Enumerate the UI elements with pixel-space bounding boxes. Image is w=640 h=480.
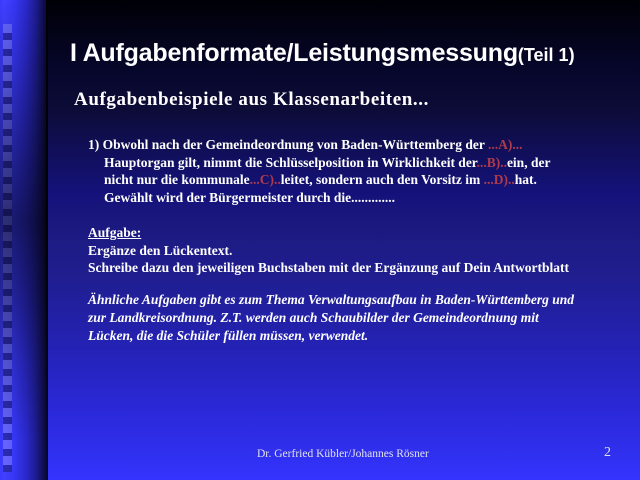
slide-title-suffix: (Teil 1) <box>518 45 575 65</box>
question-line-2-text: Hauptorgan gilt, nimmt die Schlüsselposi… <box>104 155 477 170</box>
presentation-slide: I Aufgabenformate/Leistungsmessung(Teil … <box>0 0 640 480</box>
task-heading: Aufgabe: <box>88 224 633 242</box>
footer-page-number: 2 <box>604 445 611 461</box>
slide-title: I Aufgabenformate/Leistungsmessung(Teil … <box>70 38 630 70</box>
question-line-1-text: 1) Obwohl nach der Gemeindeordnung von B… <box>88 137 488 152</box>
question-gap-b: ...B).. <box>477 155 507 170</box>
slide-content: I Aufgabenformate/Leistungsmessung(Teil … <box>0 0 640 480</box>
note-line-1: Ähnliche Aufgaben gibt es zum Thema Verw… <box>88 291 638 309</box>
question-line-1: 1) Obwohl nach der Gemeindeordnung von B… <box>88 136 628 154</box>
task-line-1: Ergänze den Lückentext. <box>88 242 633 260</box>
note-line-2: zur Landkreisordnung. Z.T. werden auch S… <box>88 309 638 327</box>
question-line-3: nicht nur die kommunale...C)..leitet, so… <box>88 171 628 189</box>
question-line-3-mid: leitet, sondern auch den Vorsitz im <box>281 172 484 187</box>
task-block: Aufgabe: Ergänze den Lückentext. Schreib… <box>88 224 633 277</box>
note-line-3: Lücken, die die Schüler füllen müssen, v… <box>88 327 638 345</box>
question-line-4: Gewählt wird der Bürgermeister durch die… <box>88 189 628 207</box>
question-line-3-text: nicht nur die kommunale <box>104 172 250 187</box>
question-line-2: Hauptorgan gilt, nimmt die Schlüsselposi… <box>88 154 628 172</box>
question-line-3-tail: hat. <box>515 172 537 187</box>
question-gap-a: ...A)... <box>488 137 523 152</box>
question-gap-d: ...D).. <box>484 172 515 187</box>
question-line-2-tail: ein, der <box>507 155 551 170</box>
slide-title-main: I Aufgabenformate/Leistungsmessung <box>70 39 518 67</box>
task-line-2: Schreibe dazu den jeweiligen Buchstaben … <box>88 259 633 277</box>
slide-subtitle: Aufgabenbeispiele aus Klassenarbeiten... <box>74 89 429 111</box>
footer-author: Dr. Gerfried Kübler/Johannes Rösner <box>257 448 429 460</box>
question-block: 1) Obwohl nach der Gemeindeordnung von B… <box>88 136 628 206</box>
question-gap-c: ...C).. <box>250 172 281 187</box>
note-block: Ähnliche Aufgaben gibt es zum Thema Verw… <box>88 291 638 345</box>
task-heading-label: Aufgabe: <box>88 225 141 240</box>
